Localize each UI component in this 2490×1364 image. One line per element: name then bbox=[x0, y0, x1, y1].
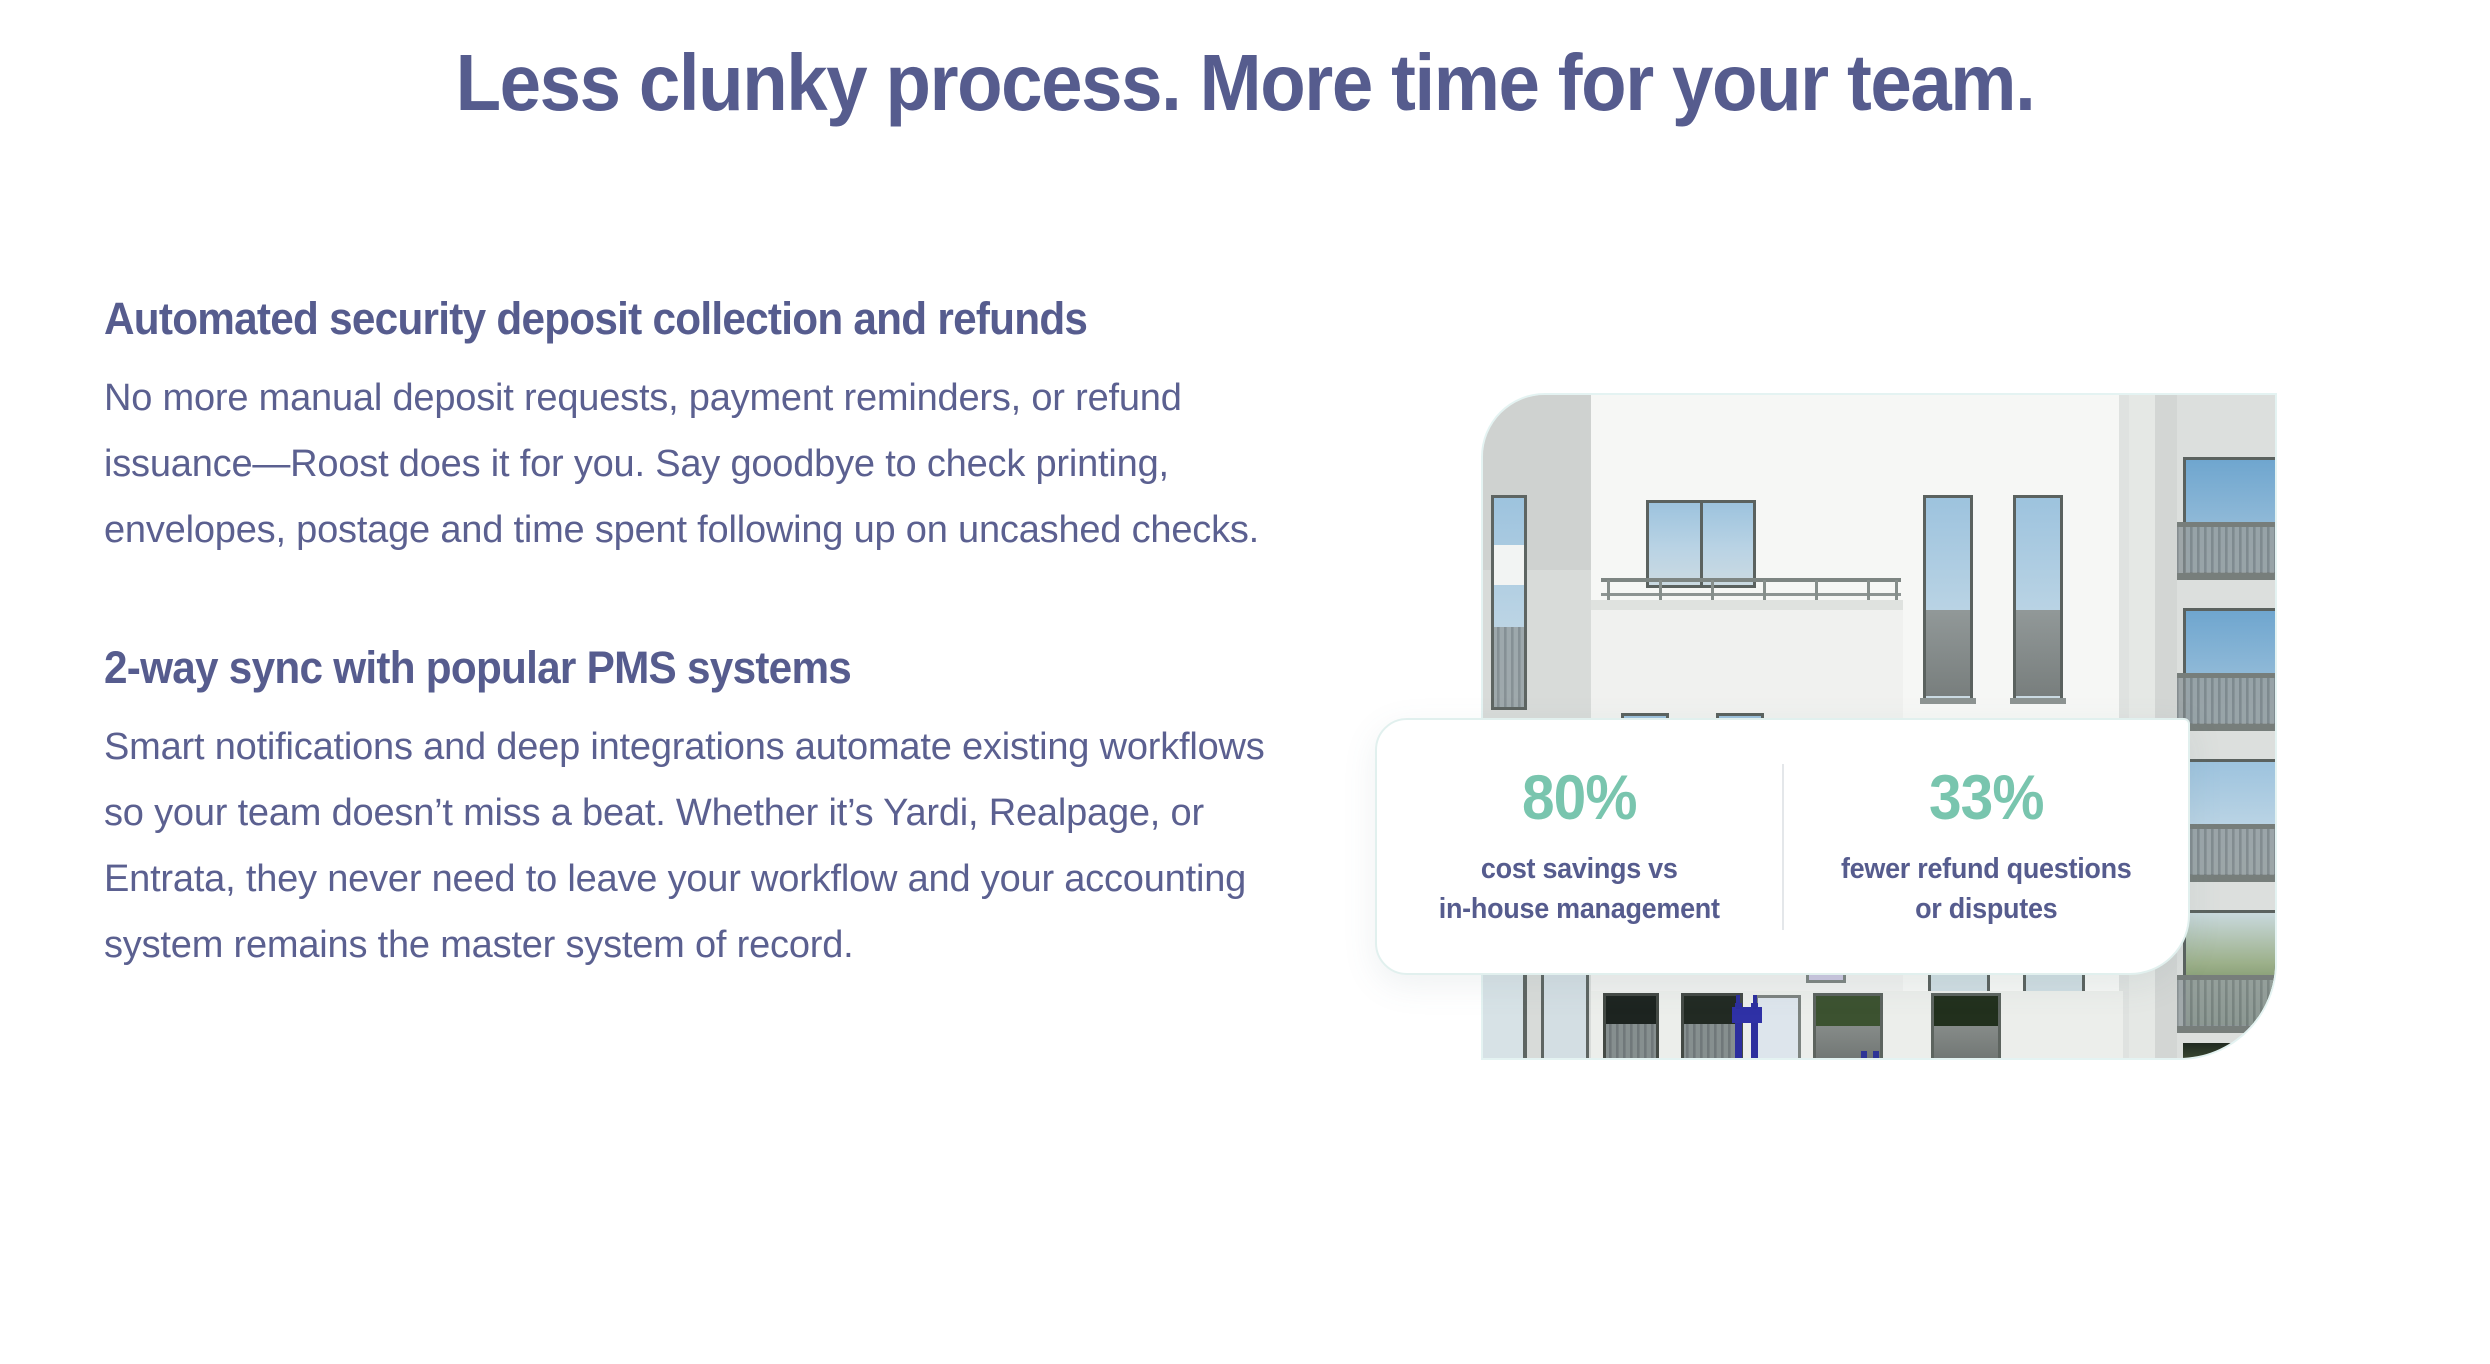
visual-column: 80% cost savings vs in-house management … bbox=[1483, 395, 2275, 1058]
stat-label: cost savings vs in-house management bbox=[1400, 849, 1758, 929]
stat-label-line: fewer refund questions bbox=[1807, 849, 2165, 889]
stats-card: 80% cost savings vs in-house management … bbox=[1375, 718, 2190, 975]
stat-label-line: in-house management bbox=[1400, 889, 1758, 929]
stat-cost-savings: 80% cost savings vs in-house management bbox=[1377, 765, 1782, 929]
feature-heading: 2-way sync with popular PMS systems bbox=[104, 635, 1204, 700]
feature-body: No more manual deposit requests, payment… bbox=[104, 365, 1294, 563]
stat-value: 33% bbox=[1807, 765, 2165, 831]
stat-label-line: cost savings vs bbox=[1400, 849, 1758, 889]
page-title: Less clunky process. More time for your … bbox=[87, 36, 2403, 130]
slide-root: Less clunky process. More time for your … bbox=[0, 0, 2490, 1364]
stat-label-line: or disputes bbox=[1807, 889, 2165, 929]
feature-heading: Automated security deposit collection an… bbox=[104, 286, 1204, 351]
feature-body: Smart notifications and deep integration… bbox=[104, 714, 1294, 978]
stat-value: 80% bbox=[1400, 765, 1758, 831]
feature-block-pms-sync: 2-way sync with popular PMS systems Smar… bbox=[104, 635, 1294, 978]
stat-fewer-refund-questions: 33% fewer refund questions or disputes bbox=[1784, 765, 2189, 929]
feature-block-deposit-automation: Automated security deposit collection an… bbox=[104, 286, 1294, 563]
stat-label: fewer refund questions or disputes bbox=[1807, 849, 2165, 929]
features-column: Automated security deposit collection an… bbox=[104, 286, 1294, 978]
